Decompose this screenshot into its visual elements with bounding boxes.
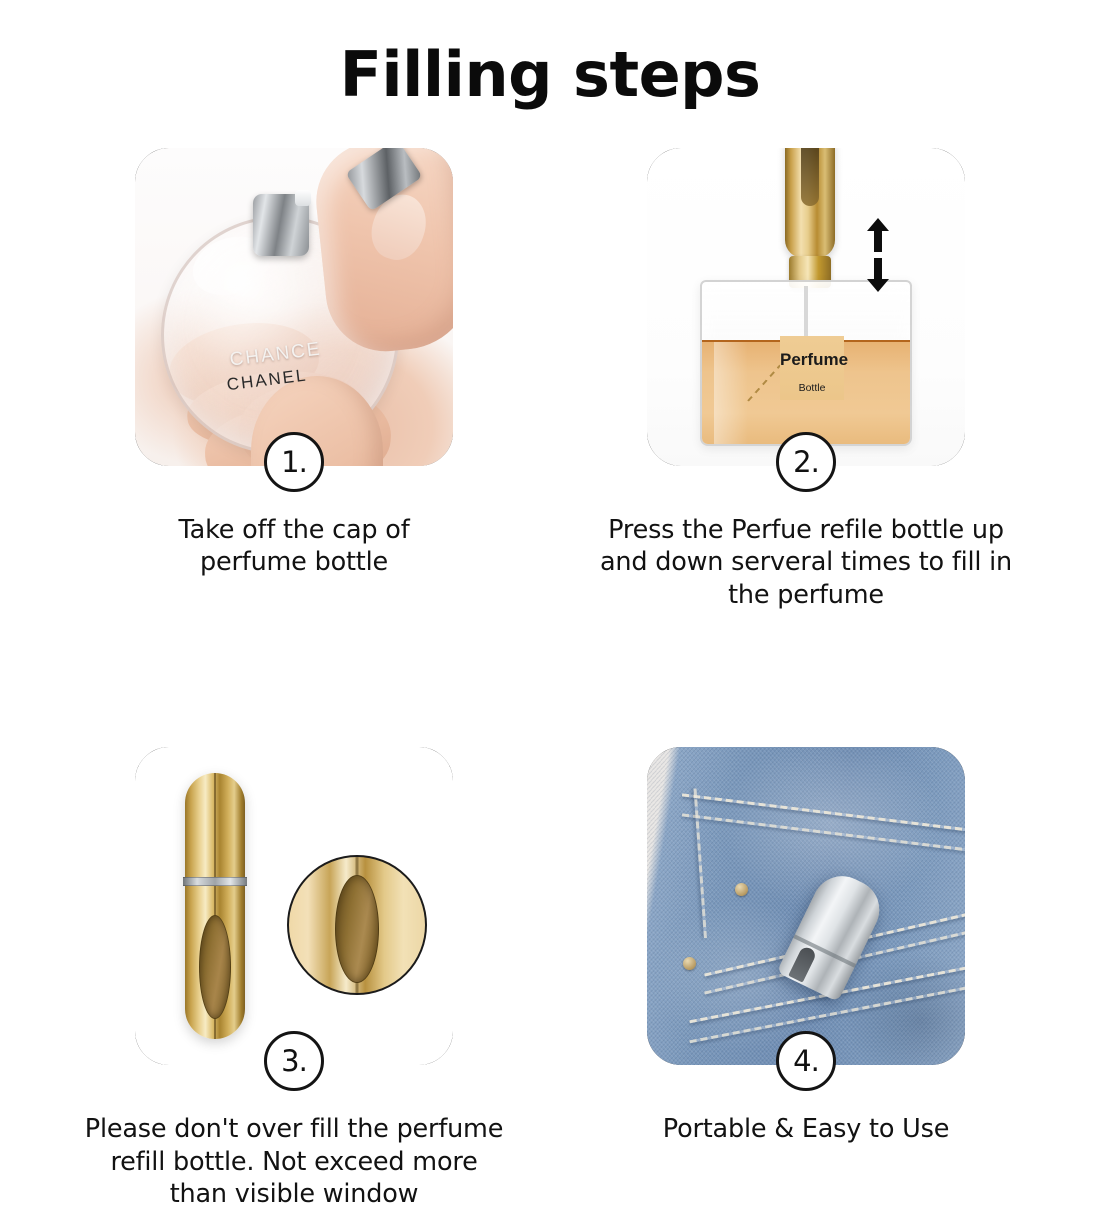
steps-row-bottom: 3. Please don't over fill the perfume re… xyxy=(0,747,1100,1210)
callout-label-subtitle: Bottle xyxy=(780,382,844,394)
atomizer-slot xyxy=(788,945,817,983)
visible-window-zoomed xyxy=(335,875,379,983)
step-1-caption: Take off the cap of perfume bottle xyxy=(135,514,453,579)
gold-refill-atomizer xyxy=(785,148,835,258)
atomizer-inner-chamber xyxy=(801,148,819,206)
callout-label-title: Perfume xyxy=(780,350,844,370)
step-3-caption: Please don't over fill the perfume refil… xyxy=(84,1113,504,1210)
arrow-up-icon xyxy=(867,218,889,252)
bottle-nozzle xyxy=(295,190,311,206)
bottle-callout-label: Perfume Bottle xyxy=(780,336,844,400)
step-4: 4. Portable & Easy to Use xyxy=(647,747,965,1210)
visible-window xyxy=(199,915,231,1019)
atomizer-silver-band xyxy=(183,877,247,886)
step-3-number-badge: 3. xyxy=(264,1031,324,1091)
arrow-down-icon xyxy=(867,258,889,292)
steps-row-top: CHANCE CHANEL 1. Take off the cap of per… xyxy=(0,148,1100,611)
steps-grid: CHANCE CHANEL 1. Take off the cap of per… xyxy=(0,148,1100,1210)
step-1: CHANCE CHANEL 1. Take off the cap of per… xyxy=(135,148,453,611)
step-3-card: 3. xyxy=(135,747,453,1065)
page-title: Filling steps xyxy=(0,38,1100,111)
step-4-caption: Portable & Easy to Use xyxy=(647,1113,965,1145)
step-4-card: 4. xyxy=(647,747,965,1065)
step-2-card: Perfume Bottle 2. xyxy=(647,148,965,466)
step-1-image: CHANCE CHANEL xyxy=(135,148,453,466)
step-2-number-badge: 2. xyxy=(776,432,836,492)
up-down-motion-indicator xyxy=(865,218,891,292)
square-perfume-bottle: Perfume Bottle xyxy=(700,280,912,446)
step-2-caption: Press the Perfue refile bottle up and do… xyxy=(596,514,1016,611)
step-3-image xyxy=(135,747,453,1065)
step-2: Perfume Bottle 2. Press the xyxy=(647,148,965,611)
step-3: 3. Please don't over fill the perfume re… xyxy=(135,747,453,1210)
magnified-window-detail xyxy=(287,855,427,995)
step-4-number-badge: 4. xyxy=(776,1031,836,1091)
step-1-number-badge: 1. xyxy=(264,432,324,492)
step-1-card: CHANCE CHANEL 1. xyxy=(135,148,453,466)
step-2-image: Perfume Bottle xyxy=(647,148,965,466)
step-4-image xyxy=(647,747,965,1065)
